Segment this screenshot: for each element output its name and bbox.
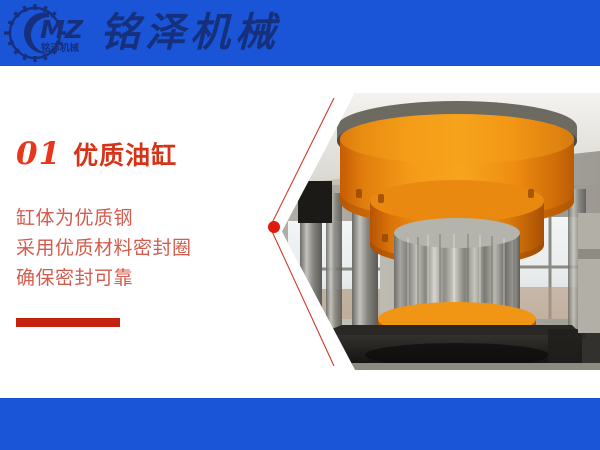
product-photo-artwork (282, 93, 600, 370)
accent-rule (16, 318, 120, 327)
feature-heading: 01 优质油缸 (16, 138, 177, 172)
product-photo (282, 93, 600, 370)
logo-subtext: 铭泽机械 (41, 42, 80, 54)
feature-body-line: 采用优质材料密封圈 (16, 233, 266, 263)
promo-banner: MZ 铭泽机械 铭泽机械 01 优质油缸 缸体为优质钢 采用优质材料密封圈 确保… (0, 0, 600, 450)
header-band: MZ 铭泽机械 铭泽机械 (0, 0, 600, 66)
feature-body-line: 确保密封可靠 (16, 263, 266, 293)
brand-title: 铭泽机械 (100, 9, 280, 57)
accent-dot (268, 221, 280, 233)
logo-letters: MZ (40, 15, 84, 44)
feature-number: 01 (16, 138, 61, 171)
feature-body-line: 缸体为优质钢 (16, 203, 266, 233)
feature-title: 优质油缸 (73, 139, 177, 172)
gear-logo-icon: MZ 铭泽机械 (4, 4, 96, 62)
footer-band (0, 398, 600, 450)
feature-body: 缸体为优质钢 采用优质材料密封圈 确保密封可靠 (16, 203, 266, 293)
